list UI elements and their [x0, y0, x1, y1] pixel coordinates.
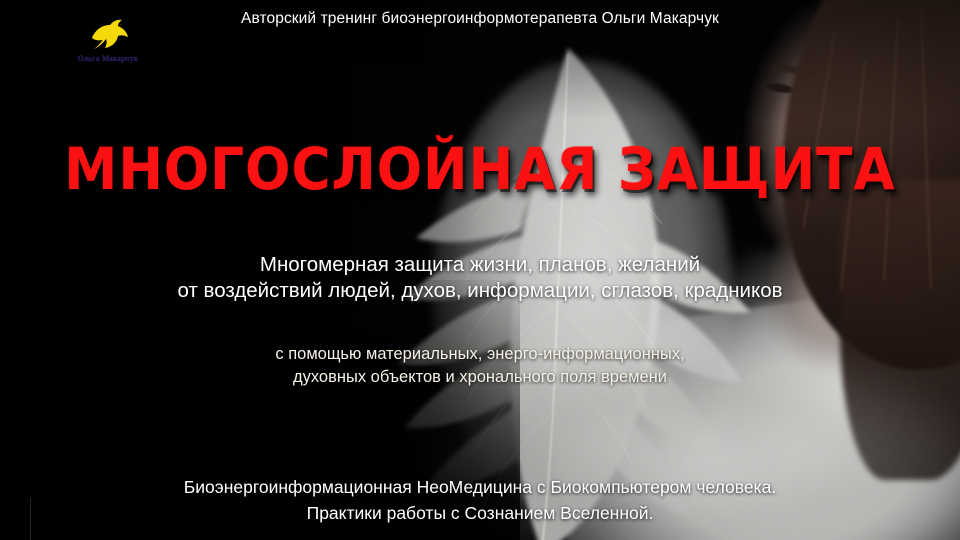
subtitle-block: Многомерная защита жизни, планов, желани…: [0, 252, 960, 304]
tertiary-line-1: с помощью материальных, энерго-информаци…: [0, 343, 960, 366]
slide-root: Ольга Макарчук Авторский тренинг биоэнер…: [0, 0, 960, 540]
tertiary-block: с помощью материальных, энерго-информаци…: [0, 343, 960, 389]
header-tagline: Авторский тренинг биоэнергоинформотерапе…: [0, 10, 960, 28]
tertiary-line-2: духовных объектов и хронального поля вре…: [0, 366, 960, 389]
subtitle-line-2: от воздействий людей, духов, информации,…: [0, 278, 960, 304]
footer-line-1: Биоэнергоинформационная НеоМедицина с Би…: [0, 474, 960, 500]
logo-name: Ольга Макарчук: [56, 54, 160, 63]
footer-block: Биоэнергоинформационная НеоМедицина с Би…: [0, 474, 960, 526]
footer-line-2: Практики работы с Сознанием Вселенной.: [0, 500, 960, 526]
subtitle-line-1: Многомерная защита жизни, планов, желани…: [0, 252, 960, 278]
page-title: МНОГОСЛОЙНАЯ ЗАЩИТА: [38, 138, 921, 200]
